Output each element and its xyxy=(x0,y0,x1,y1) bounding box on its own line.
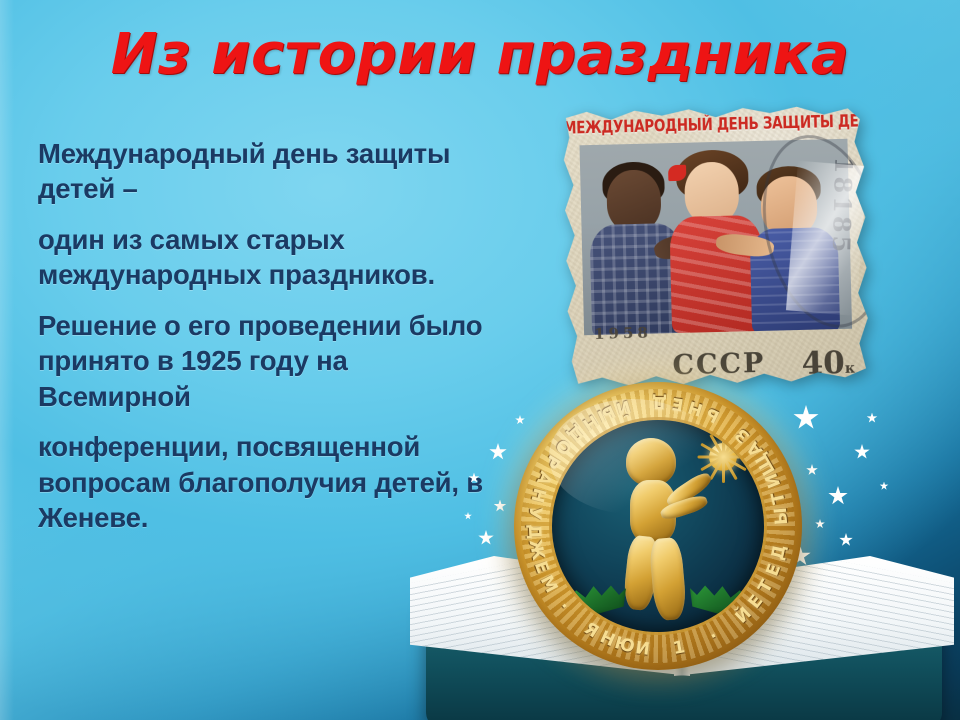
child-leg-right xyxy=(648,537,687,621)
medal-ring-char: Т xyxy=(768,490,790,506)
paragraph-3: Решение о его проведении было принято в … xyxy=(38,308,498,414)
page-title: Из истории праздника xyxy=(0,26,960,85)
sparkle-star xyxy=(815,519,825,529)
stamp-tear-highlight xyxy=(786,161,868,316)
medal-ring-char: Д xyxy=(524,524,545,540)
medal-ring-char: И xyxy=(634,638,651,660)
medal-ring-char: · xyxy=(706,626,721,647)
medal-ring-char: М xyxy=(536,572,562,596)
stamp-face-value: 40к xyxy=(801,345,855,382)
medal-ring-char: Е xyxy=(762,561,785,579)
sparkle-star xyxy=(806,464,818,476)
commemorative-medal: МЕЖДУНАРОДНЫЙДЕНЬЗАЩИТЫДЕТЕЙ·1ИЮНЯ· xyxy=(514,382,802,670)
child-head xyxy=(626,438,676,486)
medal-ring-char: Н xyxy=(526,486,549,505)
sparkle-star xyxy=(828,486,848,506)
sparkle-star xyxy=(839,533,853,547)
medal-ring-char: Е xyxy=(670,393,685,415)
presentation-slide: Из истории праздника Международный день … xyxy=(0,0,960,720)
postage-stamp: МЕЖДУНАРОДНЫЙ ДЕНЬ ЗАЩИТЫ ДЕТЕЙ xyxy=(563,102,870,389)
sparkle-star xyxy=(854,444,870,460)
medal-enamel-field xyxy=(552,420,764,632)
paragraph-4: конференции, посвященной вопросам благоп… xyxy=(38,429,498,535)
stamp-year: 1958 xyxy=(594,324,652,343)
sparkle-star xyxy=(867,413,878,424)
background-light-band xyxy=(0,0,14,720)
medal-ring-char: Т xyxy=(755,577,778,597)
medal-ring-char: Д xyxy=(652,392,667,412)
medal-ring-char: Ь xyxy=(702,403,722,427)
medal-ring-char: Ж xyxy=(524,538,548,562)
paragraph-1: Международный день защиты детей – xyxy=(38,136,498,207)
medal-ring-char: А xyxy=(532,468,556,488)
paragraph-2: один из самых старых международных празд… xyxy=(38,222,498,293)
body-text-block: Международный день защиты детей – один и… xyxy=(38,136,498,536)
sparkle-star xyxy=(880,482,889,491)
medal-ring-char: Н xyxy=(686,396,706,419)
medal-ring-char: Д xyxy=(768,543,791,562)
medal-ring-char: У xyxy=(524,506,545,521)
medal-ring-char: Ы xyxy=(771,507,792,526)
medal-ring-char: 1 xyxy=(672,637,687,659)
